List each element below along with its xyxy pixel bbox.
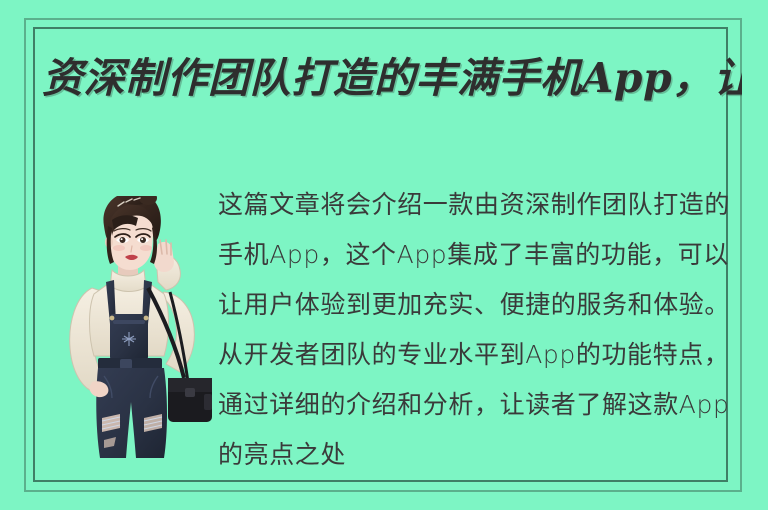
woman-illustration <box>52 196 222 468</box>
article-banner: 资深制作团队打造的丰满手机App，让你用上更加富有体验感的功能！ 这篇文章将会介… <box>0 0 768 510</box>
headline-title: 资深制作团队打造的丰满手机App，让你用上更加富有体验感的功能！ <box>42 52 742 164</box>
article-body-text: 这篇文章将会介绍一款由资深制作团队打造的手机App，这个App集成了丰富的功能，… <box>218 180 734 470</box>
woman-illustration-graphic <box>52 196 222 468</box>
